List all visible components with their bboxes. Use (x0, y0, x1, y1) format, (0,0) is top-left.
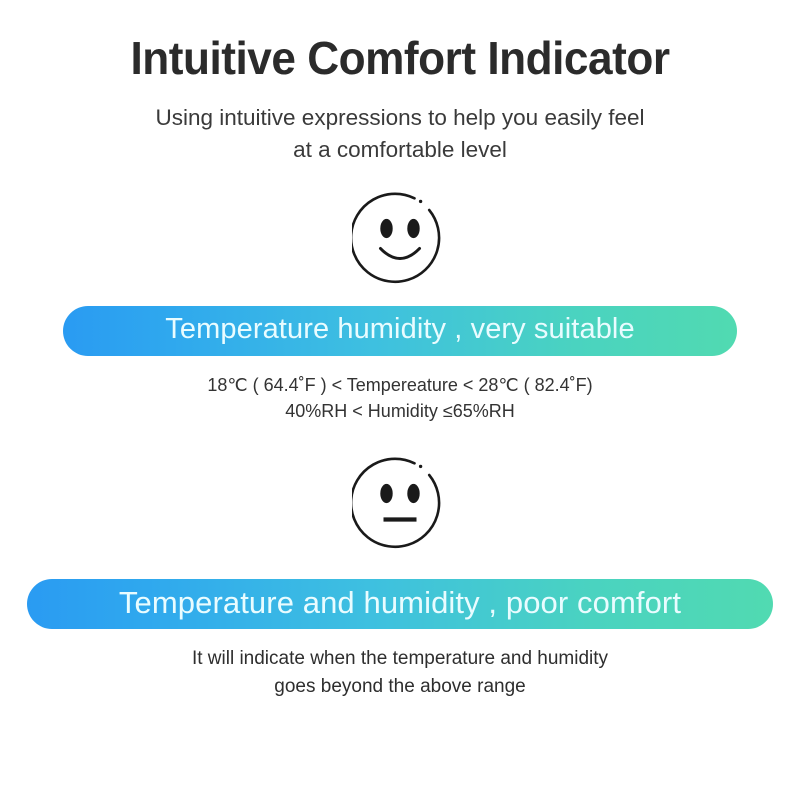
infographic-page: Intuitive Comfort Indicator Using intuit… (0, 0, 800, 800)
comfort-banner: Temperature humidity , very suitable (63, 306, 737, 356)
page-title: Intuitive Comfort Indicator (16, 34, 784, 84)
discomfort-banner-label: Temperature and humidity , poor comfort (119, 587, 681, 618)
header: Intuitive Comfort Indicator Using intuit… (0, 0, 800, 166)
comfort-spec-humidity: 40%RH < Humidity ≤65%RH (0, 398, 800, 425)
smiley-face-icon (352, 188, 448, 284)
page-subtitle: Using intuitive expressions to help you … (0, 102, 800, 166)
discomfort-note-line-1: It will indicate when the temperature an… (0, 645, 800, 673)
subtitle-line-1: Using intuitive expressions to help you … (0, 102, 800, 134)
comfort-spec-temperature: 18℃ ( 64.4˚F ) < Tempereature < 28℃ ( 82… (0, 372, 800, 399)
subtitle-line-2: at a comfortable level (0, 134, 800, 166)
discomfort-banner: Temperature and humidity , poor comfort (27, 579, 773, 629)
comfort-spec: 18℃ ( 64.4˚F ) < Tempereature < 28℃ ( 82… (0, 372, 800, 425)
discomfort-note: It will indicate when the temperature an… (0, 645, 800, 701)
discomfort-icon-container (0, 453, 800, 549)
neutral-face-icon (352, 453, 448, 549)
comfort-banner-label: Temperature humidity , very suitable (165, 315, 634, 344)
comfort-icon-container (0, 188, 800, 284)
discomfort-note-line-2: goes beyond the above range (0, 673, 800, 701)
